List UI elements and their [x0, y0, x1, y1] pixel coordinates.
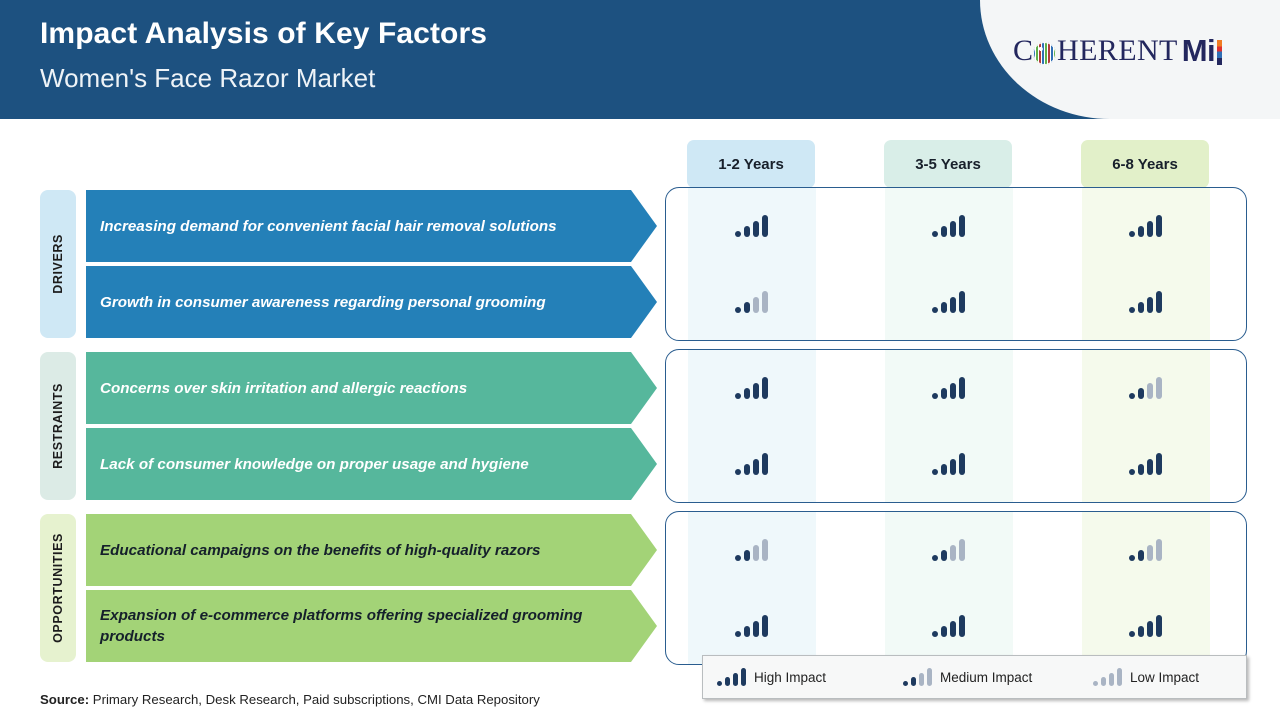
impact-bar-4: [959, 615, 965, 637]
impact-bar-2: [941, 388, 947, 399]
legend-bars-icon: [1093, 668, 1122, 686]
column-header-label: 1-2 Years: [718, 156, 784, 173]
impact-bar-3: [950, 221, 956, 237]
impact-bar-3: [753, 545, 759, 561]
factor-row[interactable]: Increasing demand for convenient facial …: [86, 190, 656, 262]
impact-bar-2: [744, 388, 750, 399]
impact-bars-icon: [932, 615, 965, 637]
category-tab-drivers[interactable]: DRIVERS: [40, 190, 76, 338]
globe-icon: [1033, 42, 1056, 65]
column-header-1: 1-2 Years: [687, 140, 815, 188]
impact-bar-1: [932, 393, 938, 399]
impact-cell-high: [884, 266, 1012, 338]
impact-bar-3: [753, 621, 759, 637]
impact-bar-4: [1156, 615, 1162, 637]
legend-bars-icon: [717, 668, 746, 686]
impact-bar-4: [959, 377, 965, 399]
impact-cell-medium: [1081, 352, 1209, 424]
factor-label: Increasing demand for convenient facial …: [86, 216, 573, 237]
impact-bars-icon: [932, 215, 965, 237]
logo-text-mi: Mi: [1182, 36, 1215, 66]
impact-bars-icon: [932, 539, 965, 561]
impact-bar-3: [950, 297, 956, 313]
impact-bar-1: [717, 681, 722, 686]
impact-bar-2: [911, 677, 916, 686]
legend-item-high: High Impact: [717, 668, 826, 686]
impact-bar-2: [744, 464, 750, 475]
impact-bar-1: [1129, 393, 1135, 399]
factor-arrow: Increasing demand for convenient facial …: [86, 190, 656, 262]
factor-row[interactable]: Educational campaigns on the benefits of…: [86, 514, 656, 586]
impact-bar-4: [1117, 668, 1122, 686]
impact-bar-1: [1129, 307, 1135, 313]
factor-label: Expansion of e-commerce platforms offeri…: [86, 605, 631, 647]
impact-cell-high: [687, 428, 815, 500]
impact-bar-2: [1138, 302, 1144, 313]
page-subtitle: Women's Face Razor Market: [40, 57, 487, 99]
arrow-tip: [631, 190, 657, 262]
factor-label: Concerns over skin irritation and allerg…: [86, 378, 483, 399]
impact-bar-2: [1138, 550, 1144, 561]
arrow-tip: [631, 352, 657, 424]
impact-bar-3: [950, 545, 956, 561]
logo-text-herent: HERENT: [1057, 36, 1178, 66]
impact-cell-high: [1081, 590, 1209, 662]
logo-letter-c: C: [1013, 36, 1033, 66]
coherentmi-logo: C HERENT Mi: [1013, 36, 1222, 66]
impact-bar-3: [1147, 621, 1153, 637]
factor-label: Lack of consumer knowledge on proper usa…: [86, 454, 545, 475]
impact-bar-4: [959, 215, 965, 237]
arrow-tip: [631, 514, 657, 586]
category-tab-restraints[interactable]: RESTRAINTS: [40, 352, 76, 500]
impact-bar-4: [762, 539, 768, 561]
impact-bar-4: [1156, 291, 1162, 313]
impact-bar-1: [1129, 231, 1135, 237]
impact-bar-2: [725, 677, 730, 686]
impact-bar-3: [1147, 221, 1153, 237]
impact-bar-1: [735, 307, 741, 313]
impact-bar-2: [941, 626, 947, 637]
category-tab-label: DRIVERS: [51, 234, 65, 294]
impact-bars-icon: [1129, 291, 1162, 313]
impact-bars-icon: [1129, 615, 1162, 637]
legend-label: Low Impact: [1130, 670, 1199, 685]
impact-bar-4: [762, 291, 768, 313]
impact-cell-high: [884, 590, 1012, 662]
legend-item-low: Low Impact: [1093, 668, 1199, 686]
impact-bar-3: [950, 459, 956, 475]
arrow-tip: [631, 266, 657, 338]
source-note: Source: Primary Research, Desk Research,…: [40, 692, 540, 707]
impact-cell-medium: [1081, 514, 1209, 586]
factor-arrow: Expansion of e-commerce platforms offeri…: [86, 590, 656, 662]
impact-bar-4: [741, 668, 746, 686]
impact-bar-3: [733, 673, 738, 686]
page-header: Impact Analysis of Key Factors Women's F…: [0, 0, 1280, 119]
impact-bar-4: [762, 215, 768, 237]
impact-bar-2: [744, 550, 750, 561]
impact-bars-icon: [735, 453, 768, 475]
impact-bar-1: [735, 631, 741, 637]
impact-bar-1: [735, 469, 741, 475]
impact-bar-1: [932, 631, 938, 637]
column-header-2: 3-5 Years: [884, 140, 1012, 188]
factor-arrow: Educational campaigns on the benefits of…: [86, 514, 656, 586]
legend-label: Medium Impact: [940, 670, 1032, 685]
factor-arrow: Lack of consumer knowledge on proper usa…: [86, 428, 656, 500]
impact-bars-icon: [1129, 453, 1162, 475]
impact-bars-icon: [1129, 539, 1162, 561]
impact-bars-icon: [735, 215, 768, 237]
impact-bar-1: [735, 393, 741, 399]
impact-bar-4: [1156, 453, 1162, 475]
factor-arrow: Growth in consumer awareness regarding p…: [86, 266, 656, 338]
impact-cell-high: [884, 352, 1012, 424]
impact-bars-icon: [735, 615, 768, 637]
impact-analysis-infographic: Impact Analysis of Key Factors Women's F…: [0, 0, 1280, 720]
impact-cell-high: [687, 190, 815, 262]
impact-bar-1: [932, 231, 938, 237]
impact-bar-2: [1138, 388, 1144, 399]
impact-bar-4: [1156, 215, 1162, 237]
impact-bar-3: [1109, 673, 1114, 686]
impact-bar-3: [1147, 383, 1153, 399]
impact-bar-4: [1156, 539, 1162, 561]
impact-bar-4: [959, 453, 965, 475]
impact-bar-2: [1138, 464, 1144, 475]
impact-bars-icon: [932, 291, 965, 313]
impact-bars-icon: [1129, 377, 1162, 399]
impact-bar-2: [941, 226, 947, 237]
factor-arrow: Concerns over skin irritation and allerg…: [86, 352, 656, 424]
impact-bar-3: [753, 297, 759, 313]
legend-label: High Impact: [754, 670, 826, 685]
impact-bar-3: [753, 383, 759, 399]
legend-bars-icon: [903, 668, 932, 686]
factor-label: Growth in consumer awareness regarding p…: [86, 292, 562, 313]
impact-bars-icon: [735, 291, 768, 313]
impact-bar-1: [735, 231, 741, 237]
impact-bar-4: [762, 377, 768, 399]
impact-bar-1: [932, 555, 938, 561]
impact-cell-high: [884, 428, 1012, 500]
impact-bars-icon: [735, 377, 768, 399]
column-header-label: 6-8 Years: [1112, 156, 1178, 173]
impact-cell-high: [1081, 428, 1209, 500]
factor-row[interactable]: Concerns over skin irritation and allerg…: [86, 352, 656, 424]
impact-bar-4: [959, 291, 965, 313]
impact-bar-4: [1156, 377, 1162, 399]
category-tab-opportunities[interactable]: OPPORTUNITIES: [40, 514, 76, 662]
impact-bar-3: [950, 621, 956, 637]
arrow-tip: [631, 590, 657, 662]
factor-row[interactable]: Expansion of e-commerce platforms offeri…: [86, 590, 656, 662]
impact-cell-medium: [884, 514, 1012, 586]
page-title: Impact Analysis of Key Factors: [40, 11, 487, 57]
impact-bar-2: [941, 464, 947, 475]
legend-item-medium: Medium Impact: [903, 668, 1032, 686]
impact-cell-high: [1081, 266, 1209, 338]
impact-bar-1: [932, 307, 938, 313]
source-label: Source:: [40, 692, 89, 707]
source-text: Primary Research, Desk Research, Paid su…: [93, 692, 540, 707]
category-tab-label: RESTRAINTS: [51, 383, 65, 469]
impact-bar-2: [941, 302, 947, 313]
impact-bar-4: [762, 453, 768, 475]
impact-bar-3: [753, 221, 759, 237]
impact-bar-1: [1129, 631, 1135, 637]
impact-bar-4: [959, 539, 965, 561]
legend: High ImpactMedium ImpactLow Impact: [702, 655, 1247, 699]
impact-cell-high: [884, 190, 1012, 262]
impact-bar-1: [932, 469, 938, 475]
impact-bars-icon: [932, 377, 965, 399]
arrow-tip: [631, 428, 657, 500]
impact-bar-1: [1093, 681, 1098, 686]
factor-label: Educational campaigns on the benefits of…: [86, 540, 557, 561]
factor-row[interactable]: Lack of consumer knowledge on proper usa…: [86, 428, 656, 500]
impact-bar-1: [903, 681, 908, 686]
header-text-block: Impact Analysis of Key Factors Women's F…: [40, 11, 487, 99]
impact-bar-2: [1138, 226, 1144, 237]
impact-bar-3: [753, 459, 759, 475]
impact-bar-2: [1138, 626, 1144, 637]
impact-bar-3: [919, 673, 924, 686]
impact-cell-medium: [687, 514, 815, 586]
impact-bar-1: [1129, 555, 1135, 561]
impact-bar-2: [744, 302, 750, 313]
impact-bar-4: [927, 668, 932, 686]
impact-cell-high: [687, 590, 815, 662]
impact-cell-high: [687, 352, 815, 424]
impact-cell-medium: [687, 266, 815, 338]
impact-bar-1: [735, 555, 741, 561]
impact-cell-high: [1081, 190, 1209, 262]
column-header-3: 6-8 Years: [1081, 140, 1209, 188]
impact-bar-1: [1129, 469, 1135, 475]
factor-row[interactable]: Growth in consumer awareness regarding p…: [86, 266, 656, 338]
impact-bar-3: [950, 383, 956, 399]
impact-bars-icon: [932, 453, 965, 475]
impact-bar-4: [762, 615, 768, 637]
impact-bar-3: [1147, 545, 1153, 561]
impact-bar-3: [1147, 459, 1153, 475]
impact-bars-icon: [1129, 215, 1162, 237]
impact-bar-3: [1147, 297, 1153, 313]
impact-grid: DRIVERSIncreasing demand for convenient …: [0, 190, 1280, 640]
impact-bar-2: [941, 550, 947, 561]
category-tab-label: OPPORTUNITIES: [51, 533, 65, 643]
column-header-label: 3-5 Years: [915, 156, 981, 173]
impact-bar-2: [744, 226, 750, 237]
impact-bar-2: [744, 626, 750, 637]
logo-gradient-bar-icon: [1217, 40, 1222, 65]
impact-bars-icon: [735, 539, 768, 561]
impact-bar-2: [1101, 677, 1106, 686]
